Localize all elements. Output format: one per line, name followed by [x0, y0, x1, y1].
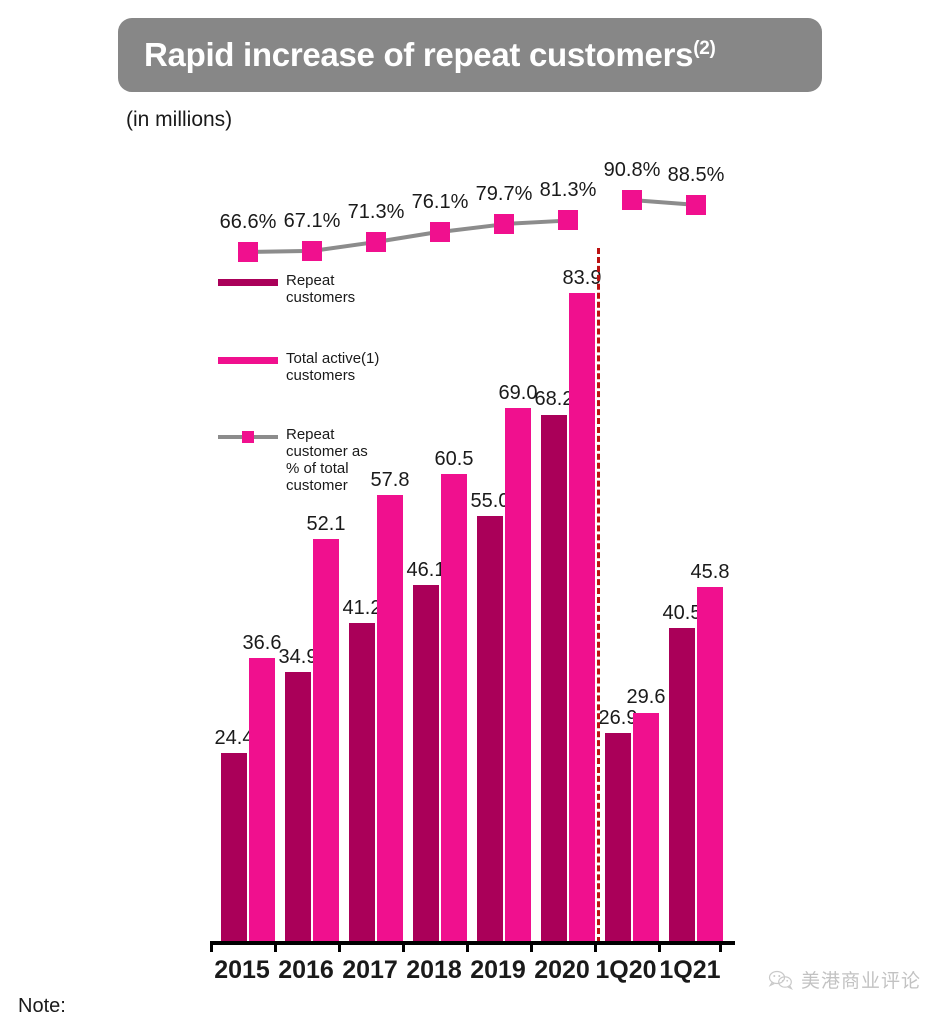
pct-value-label: 67.1%	[278, 210, 346, 233]
legend-item-label: Repeatcustomer as% of totalcustomer	[286, 426, 368, 494]
bar-repeat-customers-1Q21[interactable]	[669, 628, 695, 941]
pct-marker-2015[interactable]	[238, 242, 258, 262]
x-axis-label-1Q21: 1Q21	[658, 956, 722, 985]
x-axis-tick	[274, 941, 277, 952]
pct-marker-2020[interactable]	[558, 210, 578, 230]
pct-value-label: 90.8%	[598, 159, 666, 182]
bar-repeat-customers-1Q20[interactable]	[605, 733, 631, 941]
slide-canvas: Rapid increase of repeat customers(2) (i…	[0, 0, 935, 1024]
x-axis-tick	[658, 941, 661, 952]
bar-value-label: 29.6	[618, 686, 674, 709]
pct-marker-1Q20[interactable]	[622, 190, 642, 210]
bar-repeat-customers-2017[interactable]	[349, 623, 375, 941]
x-axis-tick	[402, 941, 405, 952]
watermark: 美港商业评论	[768, 966, 921, 993]
note-label: Note:	[18, 995, 66, 1018]
bar-total-active-customers-1Q21[interactable]	[697, 587, 723, 941]
bar-value-label: 60.5	[426, 448, 482, 471]
bar-total-active-customers-2015[interactable]	[249, 658, 275, 941]
bar-repeat-customers-2016[interactable]	[285, 672, 311, 941]
legend-item-label: Repeatcustomers	[286, 272, 355, 306]
bar-total-active-customers-2020[interactable]	[569, 293, 595, 941]
legend-color-swatch	[218, 279, 278, 286]
wechat-icon	[768, 970, 794, 990]
x-axis-label-2017: 2017	[338, 956, 402, 985]
chart-plot-area: 24.436.634.952.141.257.846.160.555.069.0…	[0, 0, 935, 1024]
legend-item-label: Total active(1)customers	[286, 350, 379, 384]
bar-repeat-customers-2015[interactable]	[221, 753, 247, 941]
x-axis-label-2015: 2015	[210, 956, 274, 985]
legend-item[interactable]: Total active(1)customers	[218, 350, 398, 384]
x-axis-tick	[530, 941, 533, 952]
pct-value-label: 88.5%	[662, 164, 730, 187]
x-axis-tick	[338, 941, 341, 952]
pct-marker-2018[interactable]	[430, 222, 450, 242]
x-axis-label-2016: 2016	[274, 956, 338, 985]
bar-repeat-customers-2019[interactable]	[477, 516, 503, 941]
pct-marker-2017[interactable]	[366, 232, 386, 252]
x-axis-label-2020: 2020	[530, 956, 594, 985]
bar-repeat-customers-2020[interactable]	[541, 415, 567, 942]
bar-value-label: 52.1	[298, 513, 354, 536]
bar-repeat-customers-2018[interactable]	[413, 585, 439, 941]
bar-value-label: 45.8	[682, 561, 738, 584]
x-axis-tick	[719, 941, 722, 952]
watermark-text: 美港商业评论	[801, 966, 921, 993]
legend-color-swatch	[218, 357, 278, 364]
pct-marker-2019[interactable]	[494, 214, 514, 234]
pct-marker-2016[interactable]	[302, 241, 322, 261]
pct-value-label: 81.3%	[534, 179, 602, 202]
legend-item[interactable]: Repeatcustomers	[218, 272, 398, 306]
bar-total-active-customers-2019[interactable]	[505, 408, 531, 941]
pct-value-label: 79.7%	[470, 183, 538, 206]
x-axis-label-1Q20: 1Q20	[594, 956, 658, 985]
bar-value-label: 83.9	[554, 267, 610, 290]
x-axis-label-2019: 2019	[466, 956, 530, 985]
x-axis-tick	[466, 941, 469, 952]
pct-value-label: 71.3%	[342, 201, 410, 224]
legend-line-marker-icon	[218, 435, 278, 439]
bar-total-active-customers-1Q20[interactable]	[633, 713, 659, 942]
bar-total-active-customers-2018[interactable]	[441, 474, 467, 941]
x-axis-line	[210, 941, 735, 945]
x-axis-tick	[594, 941, 597, 952]
pct-marker-1Q21[interactable]	[686, 195, 706, 215]
x-axis-label-2018: 2018	[402, 956, 466, 985]
pct-value-label: 66.6%	[214, 211, 282, 234]
x-axis-tick	[210, 941, 213, 952]
pct-value-label: 76.1%	[406, 191, 474, 214]
legend-item[interactable]: Repeatcustomer as% of totalcustomer	[218, 426, 398, 494]
chart-legend: RepeatcustomersTotal active(1)customersR…	[218, 272, 398, 516]
period-divider-line	[597, 248, 600, 943]
